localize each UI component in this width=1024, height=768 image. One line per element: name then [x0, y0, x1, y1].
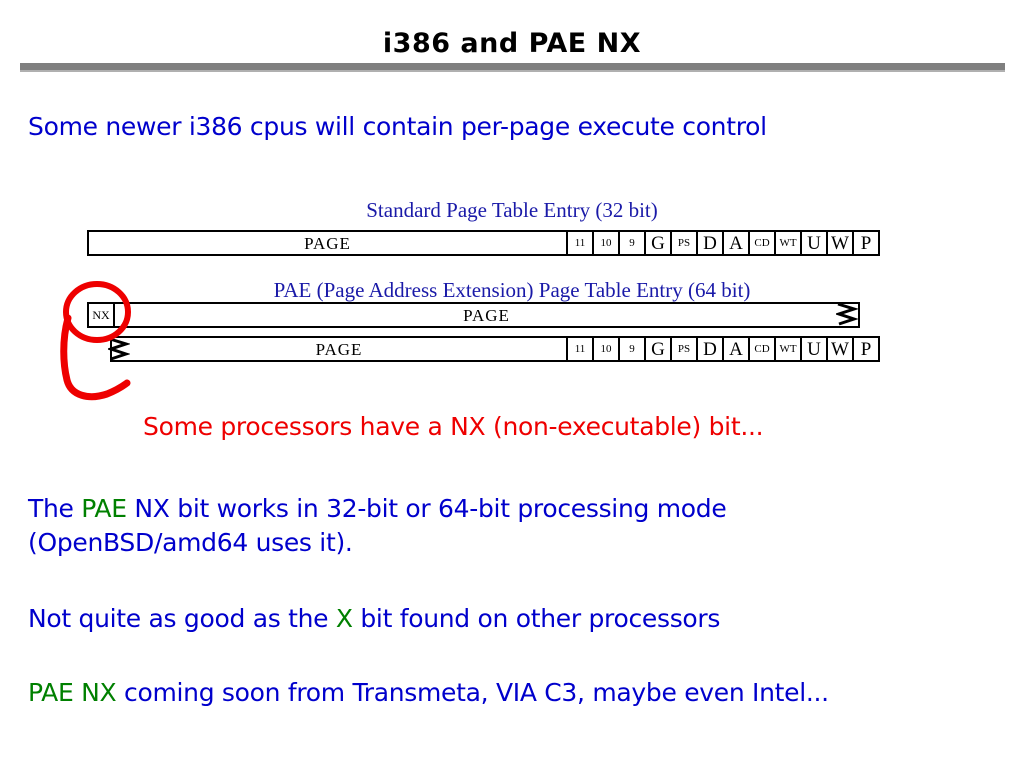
p2-seg-a: Not quite as good as the: [28, 604, 336, 633]
pae-flag-wt: WT: [774, 338, 800, 360]
pae-flag-ps: PS: [670, 338, 696, 360]
p3-seg-paenx: PAE NX: [28, 678, 116, 707]
pte-flag-9: 9: [618, 232, 644, 254]
pte-flag-10: 10: [592, 232, 618, 254]
pae-pte-row-low: PAGE 11 10 9 G PS D A CD WT U W P: [110, 336, 880, 362]
pae-pte-row-high: NX PAGE: [87, 302, 860, 328]
pte-flag-ps: PS: [670, 232, 696, 254]
pae-flag-9: 9: [618, 338, 644, 360]
pae-flag-10: 10: [592, 338, 618, 360]
p1-seg-c: NX bit works in 32-bit or 64-bit process…: [127, 494, 727, 523]
p2-seg-x: X: [336, 604, 353, 633]
p2-seg-c: bit found on other processors: [353, 604, 720, 633]
pae-flag-g: G: [644, 338, 670, 360]
pte-flag-d: D: [696, 232, 722, 254]
pte-flag-w: W: [826, 232, 852, 254]
p3-seg-b: coming soon from Transmeta, VIA C3, mayb…: [116, 678, 828, 707]
standard-pte-caption: Standard Page Table Entry (32 bit): [0, 198, 1024, 223]
nx-note-text: Some processors have a NX (non-executabl…: [143, 412, 763, 441]
p1-seg-a: The: [28, 494, 81, 523]
pae-page-field-low: PAGE: [112, 338, 566, 360]
paragraph-2: Not quite as good as the X bit found on …: [28, 604, 720, 633]
standard-pte-row: PAGE 11 10 9 G PS D A CD WT U W P: [87, 230, 880, 256]
paragraph-1-line-1: The PAE NX bit works in 32-bit or 64-bit…: [28, 494, 726, 523]
pte-flag-cd: CD: [748, 232, 774, 254]
pte-flag-wt: WT: [774, 232, 800, 254]
p1-seg-pae: PAE: [81, 494, 126, 523]
break-zigzag-high-icon: [836, 302, 858, 328]
pte-flag-p: P: [852, 232, 878, 254]
pae-flag-11: 11: [566, 338, 592, 360]
pte-flag-g: G: [644, 232, 670, 254]
paragraph-1-line-2: (OpenBSD/amd64 uses it).: [28, 528, 353, 557]
pte-flag-11: 11: [566, 232, 592, 254]
page-title: i386 and PAE NX: [0, 28, 1024, 59]
pae-flag-d: D: [696, 338, 722, 360]
pte-flag-a: A: [722, 232, 748, 254]
pte-page-field: PAGE: [89, 232, 566, 254]
pte-flag-u: U: [800, 232, 826, 254]
pae-flag-w: W: [826, 338, 852, 360]
intro-text: Some newer i386 cpus will contain per-pa…: [28, 112, 767, 141]
nx-highlight-annotation-icon: [55, 278, 175, 408]
pae-page-field-high: PAGE: [113, 304, 858, 326]
pae-flag-u: U: [800, 338, 826, 360]
paragraph-3: PAE NX coming soon from Transmeta, VIA C…: [28, 678, 829, 707]
title-divider: [20, 63, 1005, 72]
pae-flag-p: P: [852, 338, 878, 360]
pae-flag-cd: CD: [748, 338, 774, 360]
pae-flag-a: A: [722, 338, 748, 360]
